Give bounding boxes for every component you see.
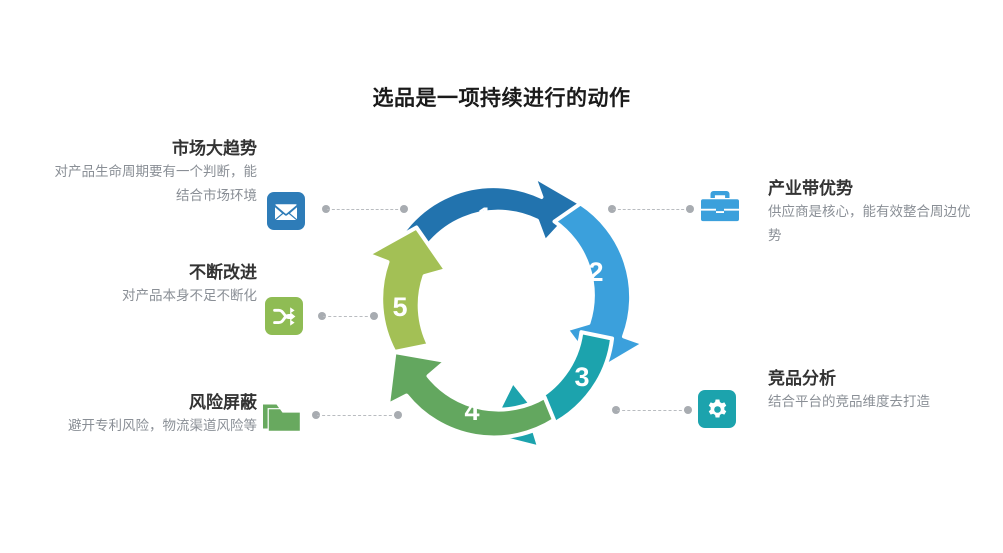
cycle-segment-4-number: 4 [464,396,479,426]
envelope-icon[interactable] [267,192,305,230]
callout-competitor-desc: 结合平台的竞品维度去打造 [768,390,983,414]
callout-market-title: 市场大趋势 [42,138,257,160]
callout-risk-icon-wrap[interactable] [262,397,302,437]
connector-dot [370,312,378,320]
callout-market-desc: 对产品生命周期要有一个判断，能结合市场环境 [42,160,257,207]
connector-dash [617,410,687,411]
callout-risk-title: 风险屏蔽 [42,392,257,414]
cycle-segment-2-number: 2 [588,257,603,287]
connector-improve [318,312,378,321]
callout-improve-title: 不断改进 [62,262,257,284]
callout-risk: 风险屏蔽 避开专利风险，物流渠道风险等 [42,392,257,438]
callout-improve-desc: 对产品本身不足不断化 [62,284,257,308]
callout-competitor: 竞品分析 结合平台的竞品维度去打造 [768,368,983,414]
connector-dash [323,316,373,317]
callout-improve-icon-wrap[interactable] [265,297,303,335]
connector-dot [684,406,692,414]
cycle-segment-5-number: 5 [392,292,407,322]
connector-dash [613,209,689,210]
callout-industry-icon-wrap[interactable] [700,186,740,226]
callout-industry: 产业带优势 供应商是核心，能有效整合周边优势 [768,178,983,247]
callout-industry-desc: 供应商是核心，能有效整合周边优势 [768,200,983,247]
connector-industry [608,205,694,214]
connector-dot [686,205,694,213]
connector-dot [394,411,402,419]
cycle-segment-1-number: 1 [477,202,492,232]
callout-industry-title: 产业带优势 [768,178,983,200]
callout-improve: 不断改进 对产品本身不足不断化 [62,262,257,308]
connector-market [322,205,408,214]
connector-dash [317,415,397,416]
cycle-segment-5[interactable]: 5 [368,228,446,353]
callout-competitor-icon-wrap[interactable] [698,390,736,428]
gear-icon[interactable] [698,390,736,428]
callout-market-icon-wrap[interactable] [267,192,305,230]
connector-competitor [612,406,692,415]
cycle-diagram: 1 2 3 4 5 [348,158,644,454]
connector-dot [400,205,408,213]
callout-competitor-title: 竞品分析 [768,368,983,390]
connector-dash [327,209,403,210]
cycle-segment-4[interactable]: 4 [388,352,554,437]
briefcase-icon[interactable] [700,186,740,226]
page-title: 选品是一项持续进行的动作 [0,82,1003,112]
callout-risk-desc: 避开专利风险，物流渠道风险等 [42,414,257,438]
folder-icon[interactable] [262,397,302,437]
callout-market: 市场大趋势 对产品生命周期要有一个判断，能结合市场环境 [42,138,257,207]
connector-risk [312,411,402,420]
cycle-segment-3-number: 3 [574,362,589,392]
shuffle-icon[interactable] [265,297,303,335]
